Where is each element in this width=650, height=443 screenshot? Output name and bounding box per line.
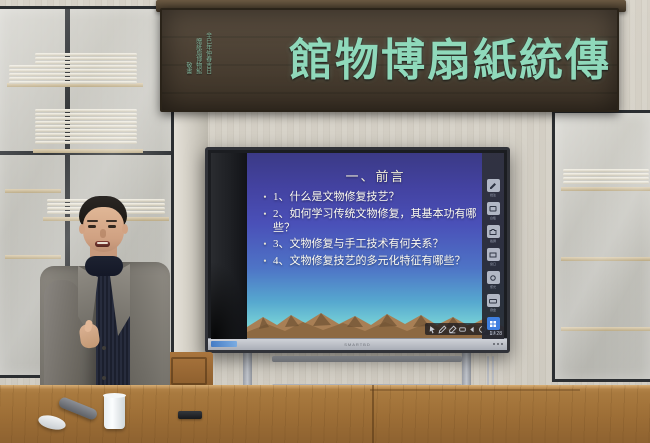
museum-name-plaque: 辛巳年仲春吉日 贈紙扇博物館 敬書 館 物 博 扇 紙 統 傳 xyxy=(160,2,650,114)
pen-icon[interactable] xyxy=(438,325,447,334)
prev-slide-icon[interactable] xyxy=(468,325,477,334)
display-stand-crossbar xyxy=(272,356,462,362)
highlighter-icon[interactable] xyxy=(448,325,457,334)
paper-rolls xyxy=(35,53,137,84)
bullet-marker-icon: • xyxy=(257,238,273,250)
slide-bullet-text: 3、文物修复与手工技术有何关系？ xyxy=(273,238,497,252)
plaque-char: 統 xyxy=(519,39,563,83)
bullet-marker-icon: • xyxy=(257,255,273,267)
shelf xyxy=(33,149,143,153)
mouth xyxy=(95,241,110,247)
eraser-icon[interactable] xyxy=(458,325,467,334)
paper-cup xyxy=(104,395,125,429)
pointer-icon[interactable] xyxy=(428,325,437,334)
capture-tool-icon[interactable] xyxy=(487,225,500,238)
eyebrow xyxy=(106,220,117,222)
tool-label: 截屏 xyxy=(490,240,496,243)
right-display-cabinet xyxy=(552,110,650,382)
plaque-char: 館 xyxy=(289,39,333,83)
whiteboard-screen[interactable]: 一、前言 • 1、什么是文物修复技艺？ • 2、如何学习传统文物修复，其基本功有… xyxy=(211,153,504,339)
inscription-column: 贈紙扇博物館 xyxy=(194,32,201,74)
paper-rolls xyxy=(563,169,649,184)
plaque-char: 紙 xyxy=(473,39,517,83)
shelf xyxy=(561,187,650,191)
tool-label: 白板 xyxy=(490,217,496,220)
apps-tool-icon[interactable] xyxy=(487,317,500,330)
eye xyxy=(108,225,116,228)
slide-bullet-text: 1、什么是文物修复技艺？ xyxy=(273,191,497,205)
slide-title: 一、前言 xyxy=(247,166,504,185)
jacket-button xyxy=(102,376,106,380)
window-tool-icon[interactable] xyxy=(487,248,500,261)
bullet-marker-icon: • xyxy=(257,191,273,203)
tool-label: 聚光 xyxy=(490,286,496,289)
brand-label: SMARTBD xyxy=(344,342,370,347)
plaque-char: 扇 xyxy=(427,39,471,83)
slide-bullet: • 4、文物修复技艺的多元化特征有哪些？ xyxy=(257,255,497,269)
ear xyxy=(79,224,85,234)
plaque-char: 物 xyxy=(335,39,379,83)
bezel-buttons[interactable] xyxy=(493,343,503,345)
tool-label: 窗口 xyxy=(490,263,496,266)
ear xyxy=(122,224,128,234)
paper-rolls xyxy=(35,109,137,144)
slide-bullet: • 3、文物修复与手工技术有何关系？ xyxy=(257,238,497,252)
turtleneck-collar xyxy=(85,256,123,276)
plaque-inscription: 辛巳年仲春吉日 贈紙扇博物館 敬書 xyxy=(184,32,211,74)
shelf xyxy=(561,257,650,261)
shelf xyxy=(561,327,650,331)
screen-tool-icon[interactable] xyxy=(487,202,500,215)
interactive-whiteboard[interactable]: 一、前言 • 1、什么是文物修复技艺？ • 2、如何学习传统文物修复，其基本功有… xyxy=(205,147,510,353)
bullet-marker-icon: • xyxy=(257,208,273,220)
inscription-column: 辛巳年仲春吉日 xyxy=(204,32,211,74)
table-wood-grain xyxy=(0,385,650,443)
presentation-slide[interactable]: 一、前言 • 1、什么是文物修复技艺？ • 2、如何学习传统文物修复，其基本功有… xyxy=(247,153,504,339)
table-seam xyxy=(372,385,374,443)
inscription-column: 敬書 xyxy=(184,32,191,74)
plaque-title-text: 館 物 博 扇 紙 統 傳 xyxy=(289,26,609,96)
page-indicator: 1 / 28 xyxy=(489,331,502,337)
whiteboard-tool-rail[interactable]: 批注 白板 截屏 窗口 聚光 xyxy=(482,153,504,339)
lecture-room-photo: 辛巳年仲春吉日 贈紙扇博物館 敬書 館 物 博 扇 紙 統 傳 xyxy=(0,0,650,443)
plaque-char: 博 xyxy=(381,39,425,83)
eye xyxy=(88,225,96,228)
keyboard-tool-icon[interactable] xyxy=(487,294,500,307)
tool-label: 键盘 xyxy=(490,309,496,312)
plaque-char: 傳 xyxy=(565,39,609,83)
slide-bullet-text: 2、如何学习传统文物修复，其基本功有哪些？ xyxy=(273,208,497,236)
slide-bullet: • 2、如何学习传统文物修复，其基本功有哪些？ xyxy=(257,208,497,236)
slide-bullet-text: 4、文物修复技艺的多元化特征有哪些？ xyxy=(273,255,497,269)
plaque-board: 辛巳年仲春吉日 贈紙扇博物館 敬書 館 物 博 扇 紙 統 傳 xyxy=(160,8,619,112)
smartphone xyxy=(178,411,202,419)
screen-reflection-band xyxy=(211,153,247,339)
left-arm xyxy=(44,280,80,400)
bezel-indicator-strip xyxy=(211,341,237,347)
spotlight-tool-icon[interactable] xyxy=(487,271,500,284)
conference-table xyxy=(0,385,650,443)
nose xyxy=(100,229,106,238)
slide-bullet-list: • 1、什么是文物修复技艺？ • 2、如何学习传统文物修复，其基本功有哪些？ •… xyxy=(257,191,497,272)
jacket-button xyxy=(102,346,106,350)
slide-bullet: • 1、什么是文物修复技艺？ xyxy=(257,191,497,205)
eyebrow xyxy=(87,220,98,222)
table-seam xyxy=(370,389,580,391)
pen-tool-icon[interactable] xyxy=(487,179,500,192)
shelf xyxy=(5,189,61,193)
tool-label: 批注 xyxy=(490,194,496,197)
whiteboard-bezel: SMARTBD xyxy=(208,338,507,350)
